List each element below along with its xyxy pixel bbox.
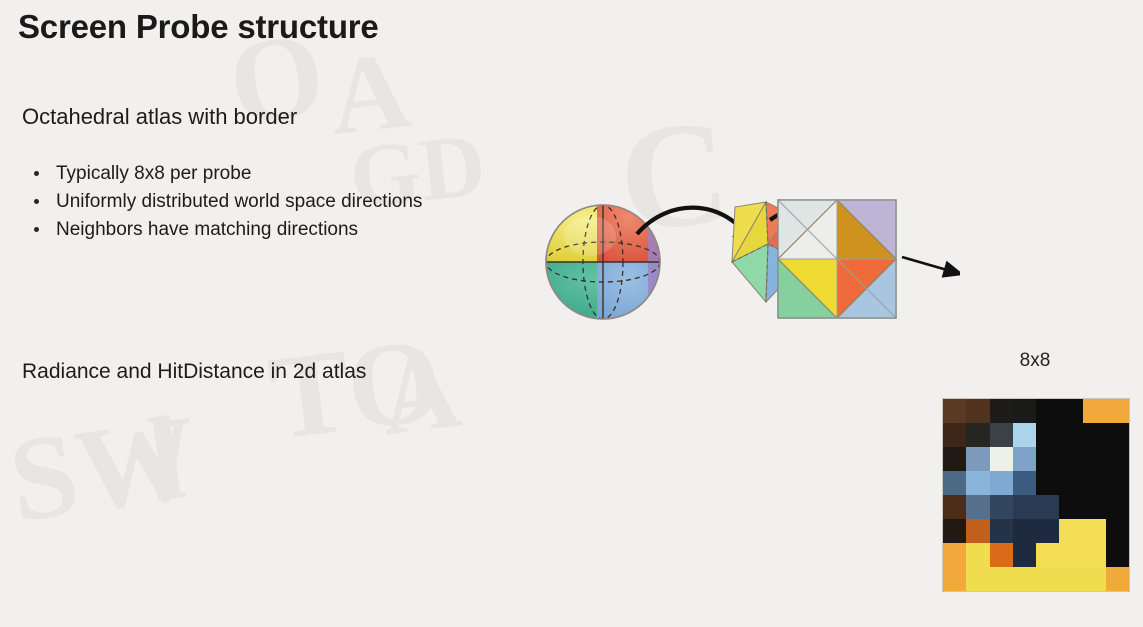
atlas-pixel-r4-c3: [1013, 495, 1036, 519]
atlas-pixel-r4-c0: [943, 495, 966, 519]
atlas-pixel-r4-c4: [1036, 495, 1059, 519]
square-atlas-icon: [778, 200, 896, 318]
atlas-pixel-r5-c5: [1059, 519, 1082, 543]
atlas-pixel-r7-c6: [1083, 567, 1106, 591]
subheading: Octahedral atlas with border: [22, 104, 1143, 130]
watermark-letter: A: [373, 326, 467, 462]
atlas-pixel-r7-c7: [1106, 567, 1129, 591]
atlas-pixel-r1-c1: [966, 423, 989, 447]
list-item: Typically 8x8 per probe: [30, 160, 550, 188]
atlas-pixel-r4-c5: [1059, 495, 1082, 519]
atlas-pixel-r4-c1: [966, 495, 989, 519]
atlas-pixel-r0-c1: [966, 399, 989, 423]
watermark-letter: TO: [262, 310, 449, 468]
atlas-pixel-r0-c7: [1106, 399, 1129, 423]
atlas-pixel-r1-c3: [1013, 423, 1036, 447]
atlas-pixel-r5-c4: [1036, 519, 1059, 543]
atlas-pixel-r7-c2: [990, 567, 1013, 591]
octahedral-mapping-diagram: [540, 174, 960, 344]
atlas-pixel-r4-c7: [1106, 495, 1129, 519]
watermark-letter: SW: [1, 388, 205, 551]
atlas-pixel-r7-c0: [943, 567, 966, 591]
atlas-8x8-caption: 8x8: [975, 350, 1095, 372]
atlas-pixel-r6-c1: [966, 543, 989, 567]
atlas-pixel-r6-c0: [943, 543, 966, 567]
atlas-pixel-r6-c4: [1036, 543, 1059, 567]
atlas-pixel-r2-c0: [943, 447, 966, 471]
bullet-dot-icon: [34, 227, 39, 232]
atlas-pixel-r3-c3: [1013, 471, 1036, 495]
atlas-pixel-r1-c7: [1106, 423, 1129, 447]
atlas-pixel-r2-c3: [1013, 447, 1036, 471]
atlas-pixel-r0-c3: [1013, 399, 1036, 423]
atlas-pixel-r2-c1: [966, 447, 989, 471]
atlas-pixel-r4-c6: [1083, 495, 1106, 519]
slide-canvas: OAGDCTOASWl Screen Probe structure Octah…: [0, 0, 1143, 627]
atlas-pixel-r1-c2: [990, 423, 1013, 447]
atlas-pixel-r5-c2: [990, 519, 1013, 543]
atlas-pixel-r1-c4: [1036, 423, 1059, 447]
atlas-pixel-r7-c1: [966, 567, 989, 591]
atlas-pixel-r1-c6: [1083, 423, 1106, 447]
atlas-pixel-r3-c4: [1036, 471, 1059, 495]
atlas-pixel-r0-c0: [943, 399, 966, 423]
atlas-pixel-r3-c5: [1059, 471, 1082, 495]
atlas-pixel-r5-c1: [966, 519, 989, 543]
sphere-icon: [540, 199, 670, 332]
watermark-letter: l: [141, 388, 193, 529]
atlas-pixel-r6-c7: [1106, 543, 1129, 567]
list-item: Neighbors have matching directions: [30, 216, 550, 244]
atlas-pixel-r3-c2: [990, 471, 1013, 495]
page-title: Screen Probe structure: [18, 8, 1143, 46]
atlas-pixel-r2-c5: [1059, 447, 1082, 471]
atlas-pixel-r7-c3: [1013, 567, 1036, 591]
atlas-pixel-r4-c2: [990, 495, 1013, 519]
atlas-pixel-r3-c7: [1106, 471, 1129, 495]
bullet-dot-icon: [34, 171, 39, 176]
list-item-label: Uniformly distributed world space direct…: [56, 191, 422, 212]
atlas-pixel-r3-c1: [966, 471, 989, 495]
list-item: Uniformly distributed world space direct…: [30, 188, 550, 216]
atlas-pixel-r2-c4: [1036, 447, 1059, 471]
atlas-pixel-r0-c6: [1083, 399, 1106, 423]
list-item-label: Typically 8x8 per probe: [56, 163, 251, 184]
atlas-pixel-r0-c5: [1059, 399, 1082, 423]
atlas-pixel-r2-c7: [1106, 447, 1129, 471]
atlas-pixel-r1-c0: [943, 423, 966, 447]
atlas-pixel-r1-c5: [1059, 423, 1082, 447]
atlas-pixel-r6-c6: [1083, 543, 1106, 567]
atlas-pixel-r5-c0: [943, 519, 966, 543]
atlas-pixel-r2-c6: [1083, 447, 1106, 471]
atlas-pixel-r6-c2: [990, 543, 1013, 567]
atlas-8x8-pixel-grid: [943, 399, 1129, 591]
watermark-letter: A: [324, 26, 416, 161]
atlas-pixel-r6-c3: [1013, 543, 1036, 567]
bullet-dot-icon: [34, 199, 39, 204]
atlas-pixel-r3-c6: [1083, 471, 1106, 495]
atlas-pixel-r0-c2: [990, 399, 1013, 423]
atlas-pixel-r5-c3: [1013, 519, 1036, 543]
atlas-pixel-r7-c4: [1036, 567, 1059, 591]
atlas-pixel-r0-c4: [1036, 399, 1059, 423]
atlas-pixel-r2-c2: [990, 447, 1013, 471]
atlas-pixel-r5-c7: [1106, 519, 1129, 543]
atlas-pixel-r7-c5: [1059, 567, 1082, 591]
bullet-list: Typically 8x8 per probe Uniformly distri…: [30, 160, 550, 244]
arrow-atlas-to-pixels: [902, 257, 954, 272]
atlas-pixel-r3-c0: [943, 471, 966, 495]
atlas-pixel-r6-c5: [1059, 543, 1082, 567]
list-item-label: Neighbors have matching directions: [56, 219, 358, 240]
atlas-pixel-r5-c6: [1083, 519, 1106, 543]
